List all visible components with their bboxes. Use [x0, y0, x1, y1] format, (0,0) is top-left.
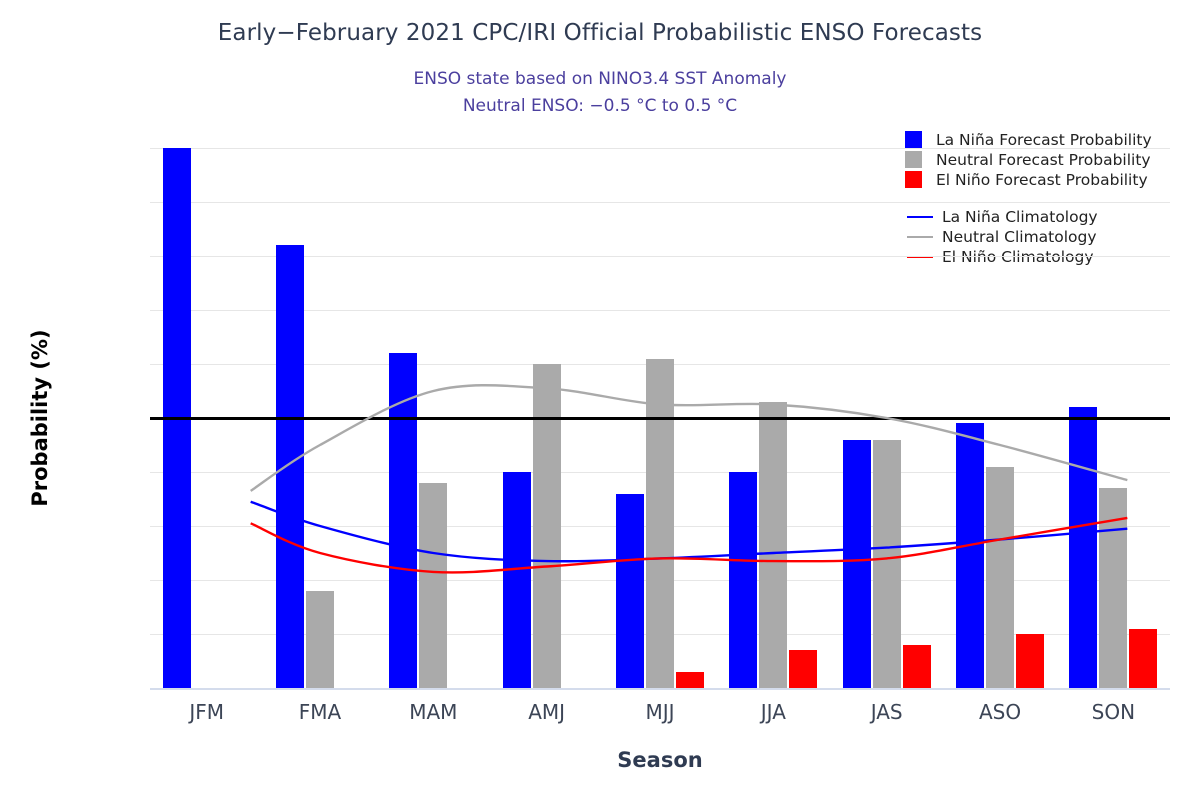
square-swatch — [905, 131, 922, 148]
bar-nino-son — [1129, 629, 1157, 688]
chart-subtitle-1: ENSO state based on NINO3.4 SST Anomaly — [0, 69, 1200, 89]
x-tick-label-amj: AMJ — [528, 700, 565, 724]
bar-nina-jas — [843, 440, 871, 688]
bar-neutral-mjj — [646, 359, 674, 688]
x-tick-label-jas: JAS — [871, 700, 903, 724]
bar-neutral-aso — [986, 467, 1014, 688]
page-title: Early−February 2021 CPC/IRI Official Pro… — [0, 20, 1200, 46]
bar-neutral-fma — [306, 591, 334, 688]
x-tick-label-fma: FMA — [299, 700, 341, 724]
x-tick-label-jfm: JFM — [189, 700, 224, 724]
bar-neutral-amj — [533, 364, 561, 688]
bar-nina-mam — [389, 353, 417, 688]
bar-neutral-jja — [759, 402, 787, 688]
y-axis-label: Probability (%) — [28, 329, 52, 506]
bar-neutral-son — [1099, 488, 1127, 688]
gridline-90 — [150, 202, 1170, 203]
x-tick-label-mjj: MJJ — [645, 700, 674, 724]
bar-neutral-jas — [873, 440, 901, 688]
gridline-0 — [150, 688, 1170, 690]
threshold-line-50 — [150, 417, 1170, 420]
bar-nina-jja — [729, 472, 757, 688]
x-tick-label-son: SON — [1092, 700, 1135, 724]
gridline-100 — [150, 148, 1170, 149]
legend-item-label: La Niña Forecast Probability — [936, 131, 1152, 149]
bar-nina-aso — [956, 423, 984, 688]
bar-nino-jas — [903, 645, 931, 688]
x-tick-label-jja: JJA — [761, 700, 786, 724]
bar-nino-jja — [789, 650, 817, 688]
x-tick-label-aso: ASO — [979, 700, 1021, 724]
bar-neutral-mam — [419, 483, 447, 688]
bar-nina-amj — [503, 472, 531, 688]
enso-forecast-chart: Early−February 2021 CPC/IRI Official Pro… — [0, 0, 1200, 800]
plot-area: 0102030405060708090100 Probability (%) J… — [150, 148, 1170, 688]
bar-nino-mjj — [676, 672, 704, 688]
bar-nina-fma — [276, 245, 304, 688]
x-tick-label-mam: MAM — [409, 700, 457, 724]
bar-nino-aso — [1016, 634, 1044, 688]
bar-nina-mjj — [616, 494, 644, 688]
bar-nina-son — [1069, 407, 1097, 688]
legend-item[interactable]: La Niña Forecast Probability — [905, 130, 1190, 149]
x-axis-label: Season — [150, 748, 1170, 772]
chart-subtitle-2: Neutral ENSO: −0.5 °C to 0.5 °C — [0, 96, 1200, 116]
